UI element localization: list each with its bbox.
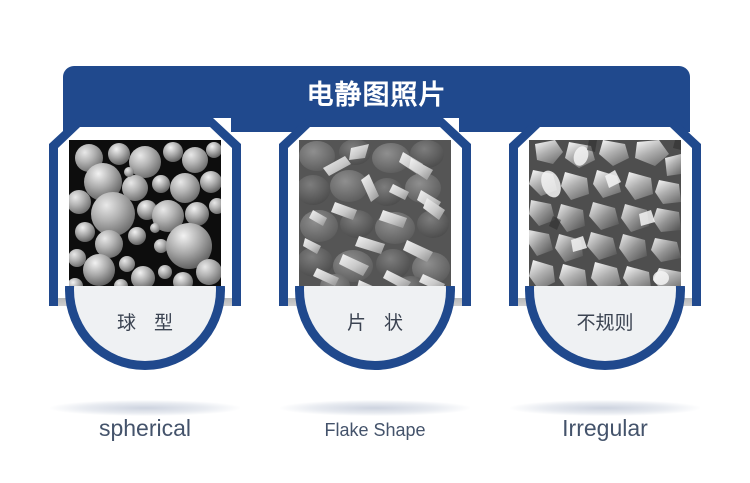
card-caption-en-spherical: spherical <box>30 415 260 442</box>
card-caption-en-irregular: Irregular <box>490 415 720 442</box>
card-caption-en-flake: Flake Shape <box>260 420 490 441</box>
card-label-cn-spherical: 球 型 <box>65 286 225 356</box>
card-shadow-spherical <box>50 400 240 416</box>
sem-spherical-powder <box>69 140 221 292</box>
card-label-cn-flake: 片 状 <box>295 286 455 356</box>
card-irregular[interactable] <box>509 118 701 306</box>
card-shadow-irregular <box>510 400 700 416</box>
card-shadow-flake <box>280 400 470 416</box>
card-label-cn-irregular: 不规则 <box>525 286 685 356</box>
infographic-stage: 电静图照片 <box>0 0 750 483</box>
card-flake[interactable] <box>279 118 471 306</box>
card-spherical[interactable] <box>49 118 241 306</box>
page-title: 电静图照片 <box>63 66 690 118</box>
header-banner: 电静图照片 <box>63 66 690 118</box>
sem-flake-powder <box>299 140 451 292</box>
sem-irregular-powder <box>529 140 681 292</box>
